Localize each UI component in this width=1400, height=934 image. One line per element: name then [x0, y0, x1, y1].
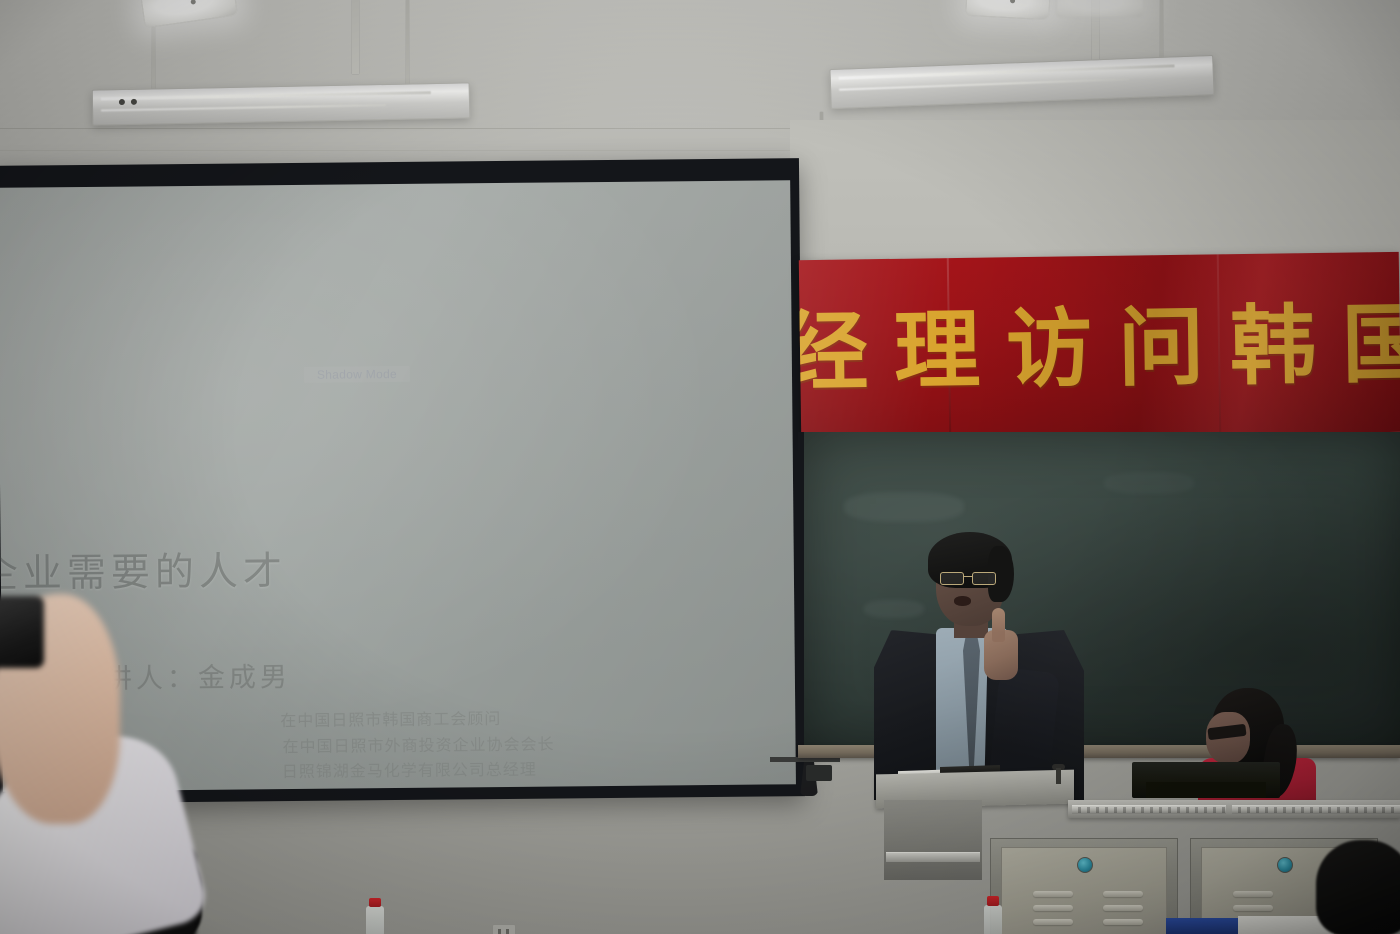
light-suspension-rod: [406, 0, 409, 88]
desk-cabinet[interactable]: [990, 838, 1178, 934]
cabinet-lock-icon[interactable]: [1277, 857, 1293, 873]
light-tube-glow: [839, 78, 1129, 91]
speaker-person: [866, 520, 1096, 800]
audience-head-silhouette: [1316, 840, 1400, 934]
lamp-mount-hole: [1010, 0, 1015, 4]
desk-rail: [1232, 805, 1400, 814]
chalk-smudge: [1104, 472, 1194, 494]
light-suspension-rod: [152, 20, 155, 98]
fluorescent-light-fixture-left: [92, 82, 471, 125]
blue-notebook[interactable]: [1166, 918, 1244, 934]
fixture-mount-dots: [119, 99, 141, 105]
microphone-stem: [1056, 768, 1061, 784]
eyeglasses: [940, 572, 1000, 583]
podium-body: [884, 800, 982, 880]
banner-crease: [1217, 254, 1222, 434]
bottle-body: [984, 905, 1002, 934]
cabinet-lock-icon[interactable]: [1077, 857, 1093, 873]
banner-crease: [947, 258, 952, 438]
lamp-mount-hole: [190, 0, 196, 5]
light-tube-glow: [100, 91, 431, 100]
shadow-mode-watermark: Shadow Mode: [304, 366, 410, 383]
bottle-cap: [987, 896, 999, 906]
ceiling-lamp-right-reflection: [1056, 0, 1144, 18]
pointing-index-finger: [992, 608, 1005, 642]
slide-title: 企业需要的人才: [0, 540, 287, 599]
bottle-body: [366, 906, 384, 934]
list-item: 在中国日照市韩国商工会顾问: [280, 704, 700, 734]
cabinet-vent-slots: [1103, 891, 1143, 931]
projection-screen-frame: Shadow Mode 企业需要的人才 演讲人：金成男 在中国日照市韩国商工会顾…: [0, 158, 805, 804]
water-bottle[interactable]: [984, 896, 1002, 934]
desk-rail: [1072, 805, 1226, 814]
mouth: [954, 596, 971, 606]
lecture-hall-photo: Shadow Mode 企业需要的人才 演讲人：金成男 在中国日照市韩国商工会顾…: [0, 0, 1400, 934]
camera-device[interactable]: [0, 596, 44, 668]
bottle-cap: [369, 898, 381, 907]
board-eraser[interactable]: [806, 765, 832, 781]
red-welcome-banner: 经理访问韩国: [799, 252, 1400, 440]
water-bottle[interactable]: [366, 898, 384, 934]
chalk-smudge: [844, 492, 964, 522]
list-item: 在中国日照市外商投资企业协会会长: [282, 730, 700, 760]
banner-text: 经理访问韩国: [799, 273, 1400, 407]
list-item: 日照锦湖金马化学有限公司总经理: [282, 755, 701, 785]
cabinet-vent-slots: [1033, 891, 1073, 931]
light-tube-glow: [101, 104, 387, 111]
desk-monitor-base: [1146, 782, 1266, 798]
podium-label-strip: [886, 852, 980, 862]
ceiling-pipe: [352, 0, 359, 74]
wall-outlet[interactable]: [492, 924, 516, 934]
slide-credentials-list: 在中国日照市韩国商工会顾问 在中国日照市外商投资企业协会会长 日照锦湖金马化学有…: [280, 704, 702, 792]
